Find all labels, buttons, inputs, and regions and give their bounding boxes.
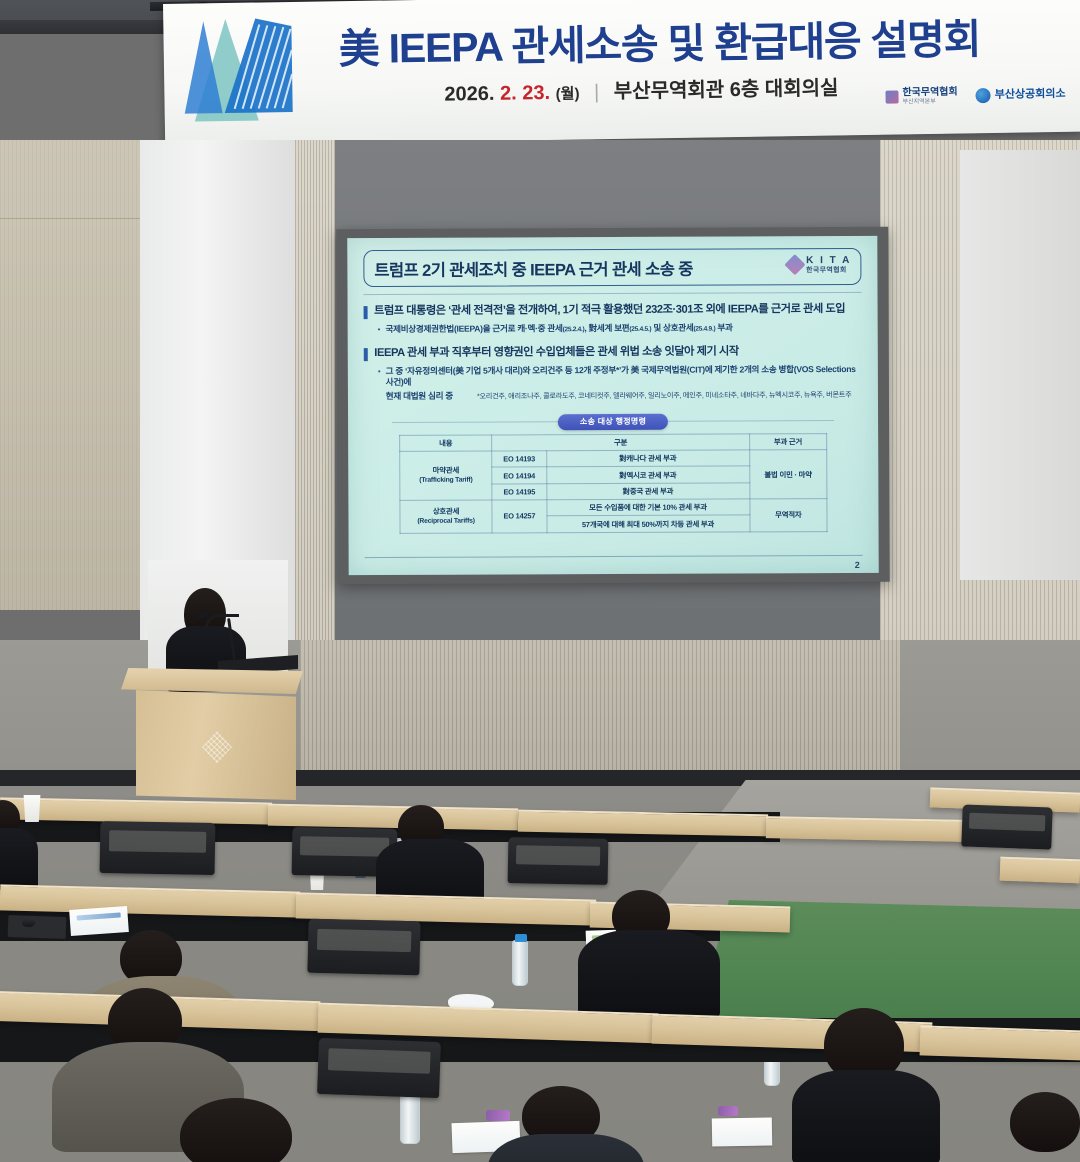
cell-eo-number: EO 14193	[492, 451, 546, 468]
cell-tariff-name: 마약관세 (Trafficking Tariff)	[400, 451, 493, 501]
banner-date-day: 23.	[522, 82, 550, 104]
slide-subbullet-2: • 그 중 ‘자유정의센터(美 기업 5개사 대리)와 오리건주 등 12개 주…	[378, 364, 862, 403]
slide-footer-rule	[365, 555, 863, 558]
sub1-main: 국제비상경제권한법(IEEPA)을 근거로 캐·멕·중 관세	[385, 323, 562, 334]
slide-bullet-2: IEEPA 관세 부과 직후부터 영향권인 수입업체들은 관세 위법 소송 잇달…	[364, 344, 862, 361]
table-row: 상호관세 (Reciprocal Tariffs) EO 14257 모든 수입…	[400, 499, 827, 517]
chair	[317, 1038, 441, 1098]
wooden-podium	[136, 690, 296, 800]
wall-right-flat-panel	[960, 150, 1080, 580]
handout-paper	[712, 1117, 772, 1146]
org-bcci: 부산상공회의소	[976, 87, 1066, 103]
banner-venue: 부산무역회관 6층 대회의실	[614, 77, 839, 103]
chair-backrest-slot	[300, 836, 389, 857]
sub2-states: *오리건주, 애리조나주, 콜로라도주, 코네티컷주, 델라웨어주, 일리노이주…	[477, 390, 851, 401]
table-badge: 소송 대상 행정명령	[558, 413, 668, 429]
slide-header: 트럼프 2기 관세조치 중 IEEPA 근거 관세 소송 중 K I T A 한…	[363, 248, 861, 287]
slide-title: 트럼프 2기 관세조치 중 IEEPA 근거 관세 소송 중	[374, 255, 693, 280]
sub1-tail: 및 상호관세	[651, 323, 693, 333]
chair-backrest-slot	[328, 1048, 431, 1074]
slide-bullet-2-heading: IEEPA 관세 부과 직후부터 영향권인 수입업체들은 관세 위법 소송 잇달…	[374, 344, 738, 360]
org-kita-name: 한국무역협회	[902, 87, 957, 99]
sub1-d2: (25.4.5.)	[629, 326, 651, 333]
table-header-content: 내용	[399, 435, 491, 452]
table-header-basis: 부과 근거	[749, 433, 827, 450]
subbullet-dot-icon: •	[378, 366, 381, 403]
executive-order-table: 내용 구분 부과 근거 마약관세 (Trafficking Tariff) EO…	[399, 433, 828, 534]
slide-page-number: 2	[855, 560, 860, 570]
projection-screen: 트럼프 2기 관세조치 중 IEEPA 근거 관세 소송 중 K I T A 한…	[336, 227, 890, 584]
chair-backrest-slot	[109, 831, 206, 853]
banner-organizers: 한국무역협회 부산지역본부 부산상공회의소	[885, 86, 1065, 106]
wall-lower-ribbed	[300, 640, 900, 790]
chair-backrest-slot	[317, 929, 412, 953]
slide-bullet-1: 트럼프 대통령은 ‘관세 전격전’을 전개하여, 1기 적극 활용했던 232조…	[364, 302, 862, 319]
handout-graphic	[76, 912, 120, 920]
wall-left-panel	[0, 140, 140, 610]
bcci-circle-mark	[976, 88, 991, 103]
sub2-line1: 그 중 ‘자유정의센터(美 기업 5개사 대리)와 오리건주 등 12개 주정부…	[386, 364, 856, 388]
table-header-division: 구분	[492, 433, 749, 450]
microphone-arm	[205, 614, 239, 628]
org-bcci-name: 부산상공회의소	[995, 88, 1066, 101]
cell-eo-desc: 對멕시코 관세 부과	[546, 466, 749, 483]
chair	[508, 837, 609, 885]
attendee-body	[792, 1070, 940, 1162]
attendee-body	[578, 930, 720, 1020]
paper-cup	[22, 795, 42, 822]
sub1-d1: (25.2.4.)	[563, 326, 585, 333]
org-kita-sub: 부산지역본부	[903, 98, 958, 105]
cell-name-ko: 마약관세	[433, 466, 459, 475]
sub1-d3: (25.4.9.)	[693, 326, 715, 333]
purple-pouch	[718, 1106, 738, 1116]
handout-paper	[69, 906, 129, 936]
wall-ribbed-panel	[295, 140, 335, 670]
lecture-hall-scene: 美 IEEPA 관세소송 및 환급대응 설명회 2026. 2. 23. (월)…	[0, 0, 1080, 1162]
cell-eo-number: EO 14195	[492, 483, 546, 500]
kita-diamond-mark	[885, 90, 898, 103]
cell-tariff-name: 상호관세 (Reciprocal Tariffs)	[400, 500, 493, 533]
slide-bullet-1-heading: 트럼프 대통령은 ‘관세 전격전’을 전개하여, 1기 적극 활용했던 232조…	[374, 302, 845, 318]
sub1-end: 부과	[715, 322, 732, 332]
cell-name-en: (Reciprocal Tariffs)	[402, 517, 489, 528]
chair	[100, 821, 216, 875]
table-badge-row: 소송 대상 행정명령	[364, 412, 862, 429]
banner-date-month: 2.	[500, 82, 517, 104]
chair-backrest-slot	[969, 812, 1045, 831]
banner-date-weekday: (월)	[556, 85, 580, 102]
kita-abbr: K I T A	[806, 256, 851, 267]
cell-eo-number: EO 14194	[492, 467, 546, 484]
presentation-slide: 트럼프 2기 관세조치 중 IEEPA 근거 관세 소송 중 K I T A 한…	[347, 236, 878, 575]
banner-separator: |	[585, 81, 609, 103]
cell-eo-number: EO 14257	[492, 500, 546, 533]
cell-eo-desc: 對중국 관세 부과	[546, 483, 749, 500]
event-banner: 美 IEEPA 관세소송 및 환급대응 설명회 2026. 2. 23. (월)…	[163, 0, 1080, 146]
sub1-mid: , 對세계 보편	[584, 323, 629, 333]
mousepad	[8, 915, 67, 939]
cell-basis: 무역적자	[749, 499, 827, 532]
org-kita: 한국무역협회 부산지역본부	[885, 88, 957, 106]
computer-mouse	[22, 918, 35, 927]
kita-logo: K I T A 한국무역협회	[787, 256, 851, 274]
cell-name-en: (Trafficking Tariff)	[402, 476, 489, 487]
slide-subbullet-1: • 국제비상경제권한법(IEEPA)을 근거로 캐·멕·중 관세(25.2.4.…	[378, 322, 862, 337]
desk-row-3	[920, 1025, 1080, 1060]
bullet-marker-icon	[364, 306, 368, 319]
kita-korean: 한국무역협회	[806, 266, 851, 274]
purple-pouch	[486, 1110, 510, 1121]
chair	[961, 804, 1052, 849]
attendee-body	[0, 828, 38, 890]
chair	[307, 919, 420, 976]
chevron-m-logo	[173, 8, 303, 130]
cell-eo-desc: 57개국에 대해 최대 50%까지 차등 관세 부과	[547, 515, 750, 532]
chair-backrest-slot	[516, 846, 600, 866]
cell-basis: 불법 이민 · 마약	[749, 450, 827, 499]
table-row: 마약관세 (Trafficking Tariff) EO 14193 對캐나다 …	[400, 450, 827, 468]
sub2-line2-wrap: 현재 대법원 심리 중 *오리건주, 애리조나주, 콜로라도주, 코네티컷주, …	[386, 389, 862, 403]
desk-row-1	[766, 816, 966, 842]
slide-header-rule	[364, 292, 862, 295]
kita-diamond-icon	[784, 255, 805, 276]
desk-row-2-right	[1000, 857, 1080, 884]
org-kita-text: 한국무역협회 부산지역본부	[902, 88, 957, 106]
attendee-head	[1010, 1092, 1080, 1152]
table-header-row: 내용 구분 부과 근거	[399, 433, 826, 451]
cell-name-ko: 상호관세	[433, 507, 459, 516]
kita-logo-text: K I T A 한국무역협회	[806, 256, 851, 274]
sub2-line2: 현재 대법원 심리 중	[386, 391, 453, 401]
cell-eo-desc: 모든 수입품에 대한 기본 10% 관세 부과	[546, 499, 749, 516]
slide-subbullet-2-text: 그 중 ‘자유정의센터(美 기업 5개사 대리)와 오리건주 등 12개 주정부…	[386, 364, 862, 403]
banner-title: 美 IEEPA 관세소송 및 환급대응 설명회	[338, 4, 1039, 75]
cell-eo-desc: 對캐나다 관세 부과	[546, 450, 749, 467]
subbullet-dot-icon: •	[378, 324, 381, 337]
bullet-marker-icon	[364, 348, 368, 361]
slide-subbullet-1-text: 국제비상경제권한법(IEEPA)을 근거로 캐·멕·중 관세(25.2.4.),…	[385, 322, 732, 336]
banner-date-year: 2026.	[444, 83, 494, 106]
water-bottle	[512, 940, 528, 986]
